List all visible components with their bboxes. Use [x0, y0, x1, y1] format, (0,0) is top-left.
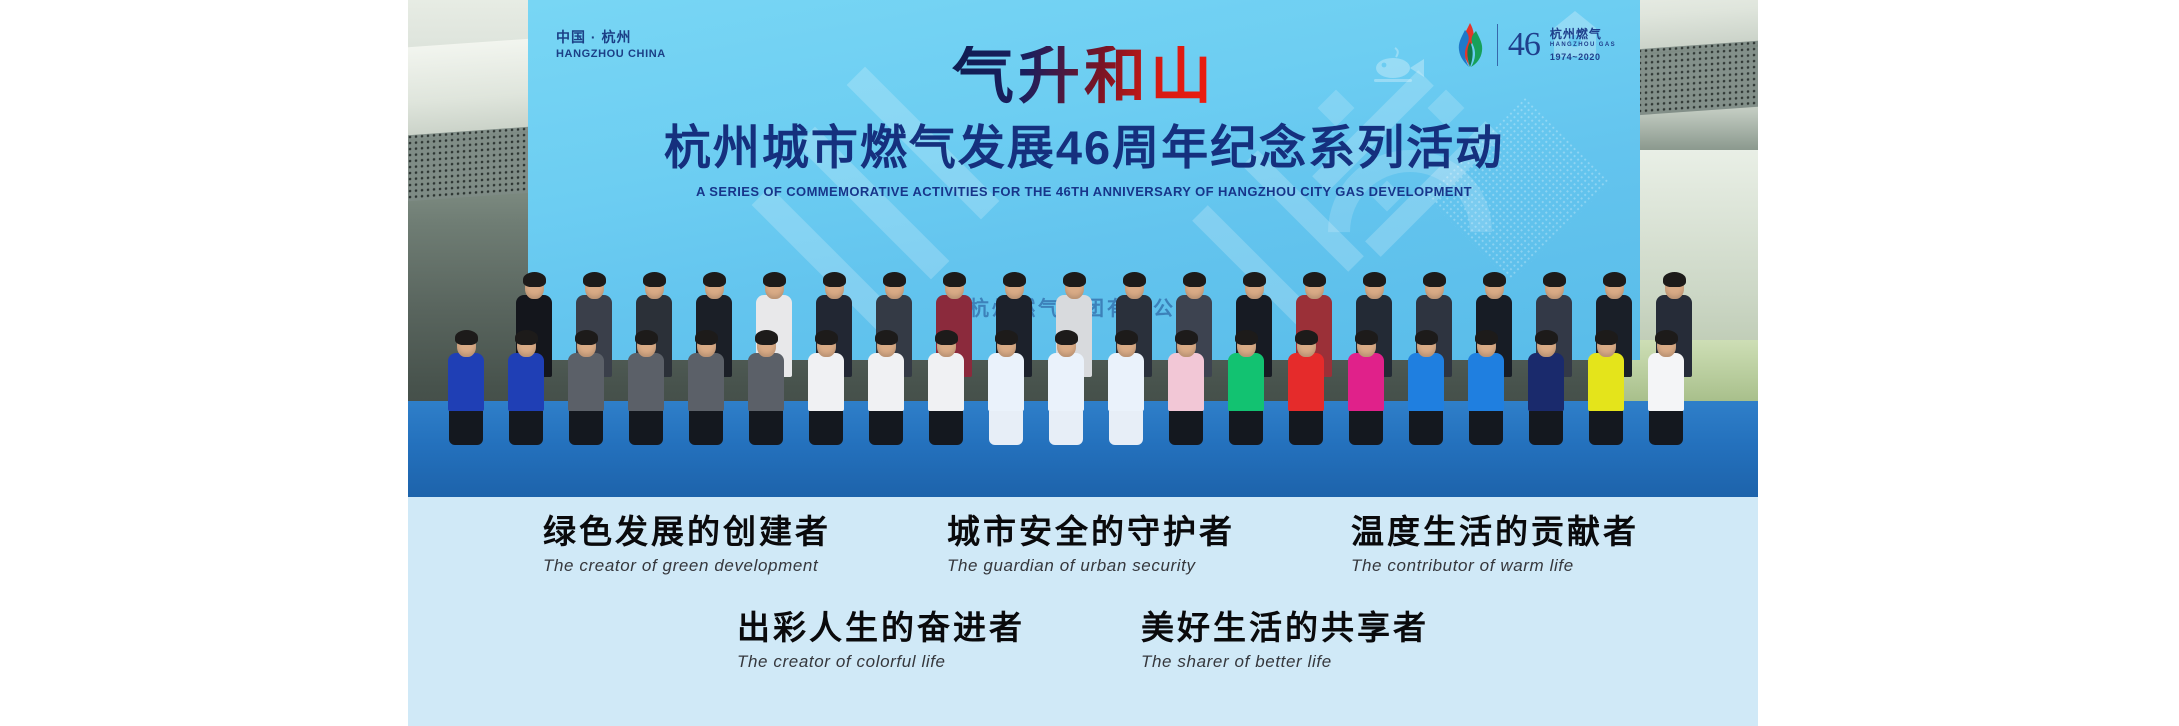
person-body [988, 353, 1024, 411]
person-legs [809, 411, 843, 445]
person-legs [1349, 411, 1383, 445]
banner-main-title: 杭州城市燃气发展46周年纪念系列活动 [664, 122, 1504, 174]
person-head [577, 334, 596, 357]
person-head [705, 276, 724, 299]
person-legs [509, 411, 543, 445]
person-body [568, 353, 604, 411]
person-legs [1049, 411, 1083, 445]
crowd-group [408, 167, 1758, 497]
person-head [525, 276, 544, 299]
person-body [1048, 353, 1084, 411]
person-head [1477, 334, 1496, 357]
locale-block: 中国 · 杭州 HANGZHOU CHINA [556, 28, 666, 62]
person-head [585, 276, 604, 299]
person-body [1168, 353, 1204, 411]
person-head [1365, 276, 1384, 299]
person-legs [569, 411, 603, 445]
person-head [1545, 276, 1564, 299]
person-legs [869, 411, 903, 445]
person-body [928, 353, 964, 411]
person-legs [1589, 411, 1623, 445]
person-head [877, 334, 896, 357]
person-head [1425, 276, 1444, 299]
person-body [628, 353, 664, 411]
caption-urban-security: 城市安全的守护者 The guardian of urban security [947, 511, 1235, 576]
person-head [825, 276, 844, 299]
caption-cn: 温度生活的贡献者 [1351, 511, 1639, 552]
person-legs [929, 411, 963, 445]
caption-cn: 出彩人生的奋进者 [737, 607, 1025, 648]
person-head [1057, 334, 1076, 357]
person-legs [1529, 411, 1563, 445]
caption-cn: 美好生活的共享者 [1141, 607, 1429, 648]
person-body [808, 353, 844, 411]
locale-cn: 中国 · 杭州 [556, 28, 666, 47]
caption-cn: 城市安全的守护者 [947, 511, 1235, 552]
caption-en: The contributor of warm life [1351, 556, 1639, 576]
caption-en: The sharer of better life [1141, 652, 1429, 672]
anniversary-number: 46 [1508, 28, 1540, 62]
person-body [1528, 353, 1564, 411]
person-legs [1109, 411, 1143, 445]
person-legs [749, 411, 783, 445]
person-head [1305, 276, 1324, 299]
person-body [1588, 353, 1624, 411]
page-root: 中国 · 杭州 HANGZHOU CHINA 46 杭州燃气 H [0, 0, 2179, 726]
logo-divider [1497, 24, 1498, 66]
person-legs [1169, 411, 1203, 445]
caption-warm-life: 温度生活的贡献者 The contributor of warm life [1351, 511, 1639, 576]
person-body [1348, 353, 1384, 411]
person-body [748, 353, 784, 411]
locale-en: HANGZHOU CHINA [556, 47, 666, 62]
person-head [1605, 276, 1624, 299]
caption-en: The guardian of urban security [947, 556, 1235, 576]
person-head [997, 334, 1016, 357]
person-head [697, 334, 716, 357]
person-body [1108, 353, 1144, 411]
content-column: 中国 · 杭州 HANGZHOU CHINA 46 杭州燃气 H [408, 0, 1758, 726]
person-head [1245, 276, 1264, 299]
caption-en: The creator of green development [543, 556, 831, 576]
caption-row-1: 绿色发展的创建者 The creator of green developmen… [408, 511, 1758, 576]
person-head [1657, 334, 1676, 357]
person-head [645, 276, 664, 299]
person-head [757, 334, 776, 357]
logo-company-cn: 杭州燃气 [1550, 27, 1616, 42]
person-legs [689, 411, 723, 445]
person-head [1005, 276, 1024, 299]
person-legs [449, 411, 483, 445]
person-head [1357, 334, 1376, 357]
person-head [1597, 334, 1616, 357]
person-body [868, 353, 904, 411]
caption-green-development: 绿色发展的创建者 The creator of green developmen… [543, 511, 831, 576]
person-body [1408, 353, 1444, 411]
logo-wordmark: 杭州燃气 HANGZHOU GAS 1974~2020 [1550, 27, 1616, 63]
person-body [1648, 353, 1684, 411]
person-body [688, 353, 724, 411]
person-legs [989, 411, 1023, 445]
person-body [1468, 353, 1504, 411]
person [448, 334, 484, 445]
caption-row-2: 出彩人生的奋进者 The creator of colorful life 美好… [408, 607, 1758, 672]
person-legs [1649, 411, 1683, 445]
flame-icon [1453, 22, 1487, 68]
person-body [448, 353, 484, 411]
caption-better-life: 美好生活的共享者 The sharer of better life [1141, 607, 1429, 672]
caption-colorful-life: 出彩人生的奋进者 The creator of colorful life [737, 607, 1025, 672]
person-head [1297, 334, 1316, 357]
person-body [1228, 353, 1264, 411]
person-head [817, 334, 836, 357]
person-legs [1289, 411, 1323, 445]
person-head [1665, 276, 1684, 299]
person-legs [1229, 411, 1263, 445]
group-photo: 中国 · 杭州 HANGZHOU CHINA 46 杭州燃气 H [408, 0, 1758, 497]
person-legs [1469, 411, 1503, 445]
person-head [1185, 276, 1204, 299]
person-head [457, 334, 476, 357]
anniversary-logo: 46 杭州燃气 HANGZHOU GAS 1974~2020 [1453, 22, 1616, 68]
person-head [1537, 334, 1556, 357]
logo-company-en: HANGZHOU GAS [1550, 42, 1616, 50]
person-head [937, 334, 956, 357]
person-head [1177, 334, 1196, 357]
logo-years: 1974~2020 [1550, 52, 1616, 63]
person-body [1288, 353, 1324, 411]
art-title: 气升和山 [952, 46, 1216, 108]
caption-panel: 绿色发展的创建者 The creator of green developmen… [408, 497, 1758, 726]
person-head [765, 276, 784, 299]
person-head [945, 276, 964, 299]
caption-en: The creator of colorful life [737, 652, 1025, 672]
caption-cn: 绿色发展的创建者 [543, 511, 831, 552]
person-head [1065, 276, 1084, 299]
person-head [885, 276, 904, 299]
person-body [508, 353, 544, 411]
fish-icon [1366, 46, 1428, 90]
person-head [517, 334, 536, 357]
person-legs [629, 411, 663, 445]
person-head [1125, 276, 1144, 299]
person-head [1417, 334, 1436, 357]
person-head [1117, 334, 1136, 357]
person-head [637, 334, 656, 357]
person-head [1237, 334, 1256, 357]
person-legs [1409, 411, 1443, 445]
person-head [1485, 276, 1504, 299]
